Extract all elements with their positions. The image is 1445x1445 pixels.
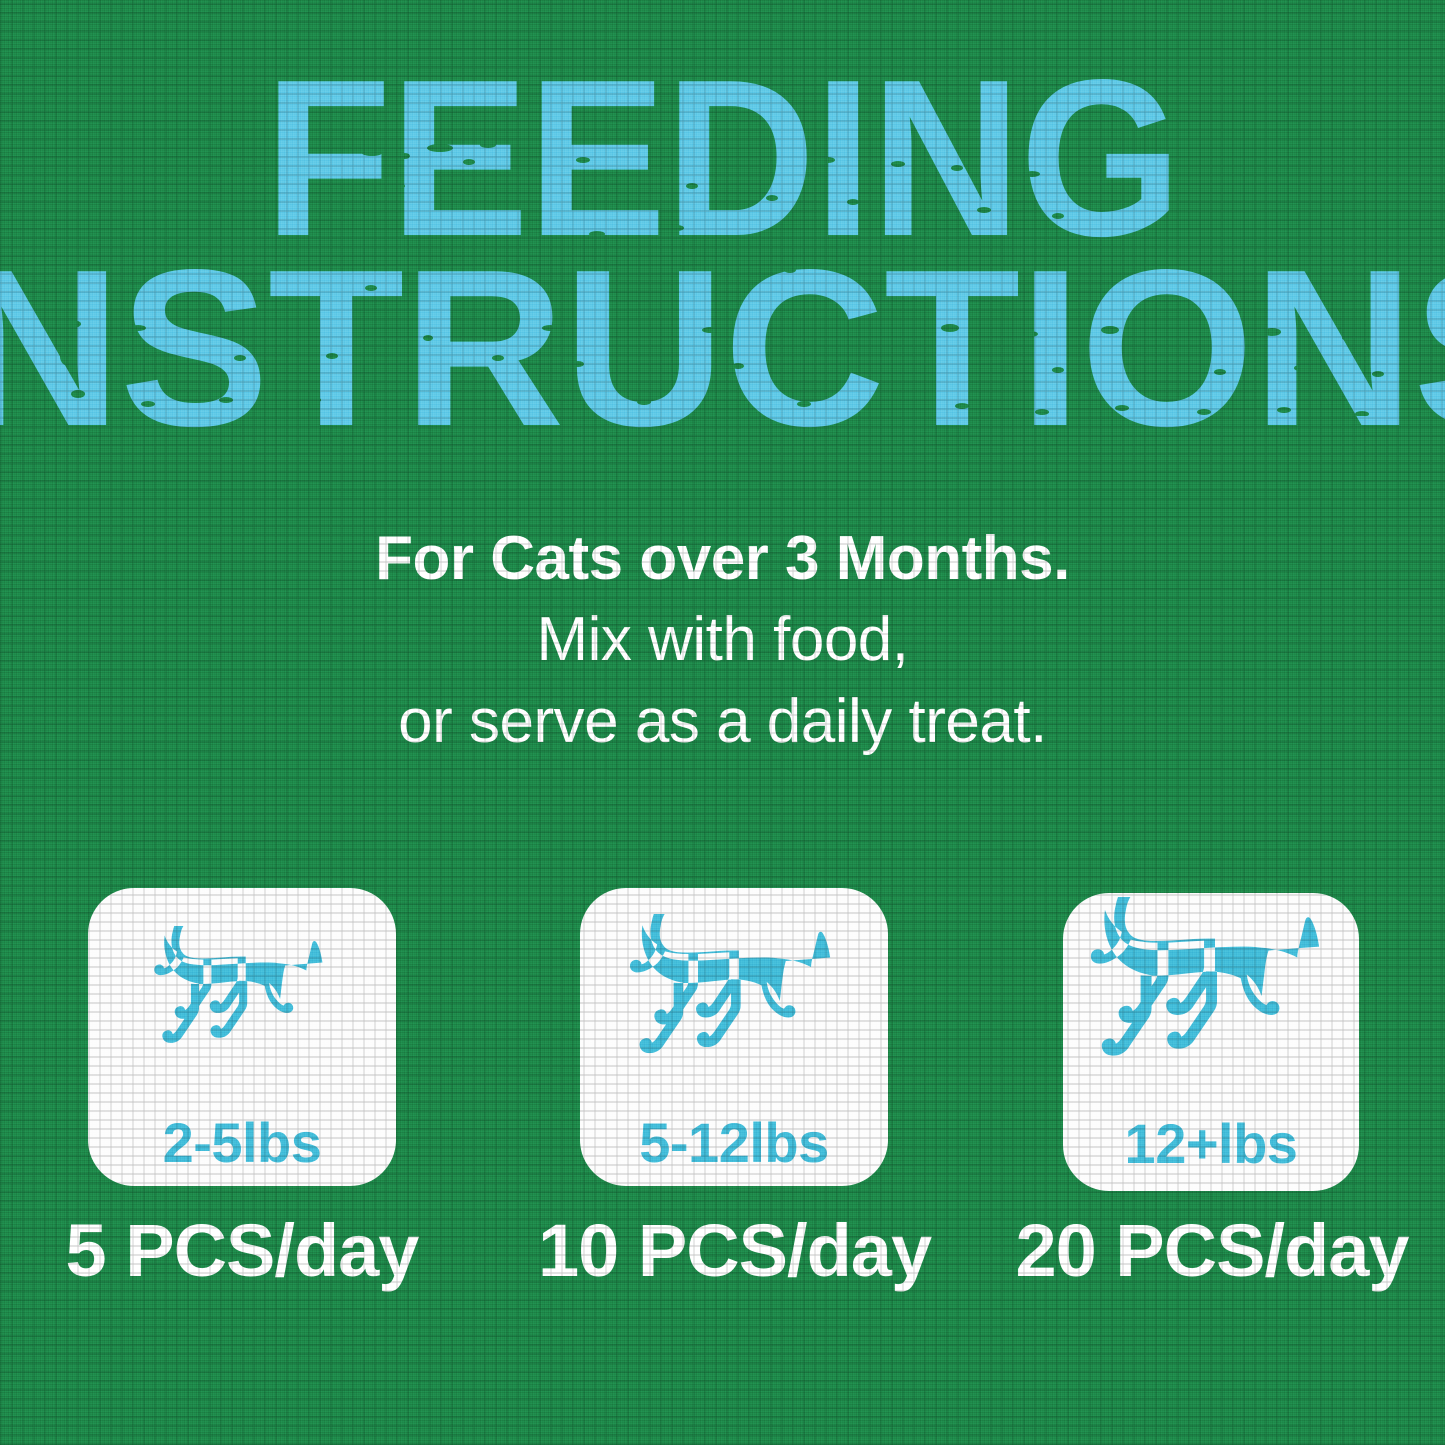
weight-card-large: 12+lbs	[1063, 893, 1359, 1191]
body-line-2: Mix with food,	[0, 605, 1445, 674]
page-title: FEEDING INSTRUCTIONS	[0, 56, 1445, 427]
body-line-1: For Cats over 3 Months.	[0, 524, 1445, 593]
weight-card-row: 2-5lbs 5-12lbs 12+lbs	[0, 888, 1445, 1188]
headline-line-2: INSTRUCTIONS	[0, 246, 1445, 452]
walking-cat-icon	[1083, 897, 1345, 1125]
dosage-label-small: 5 PCS/day	[60, 1208, 424, 1293]
walking-cat-icon	[150, 926, 340, 1094]
card-weight-label: 5-12lbs	[580, 1110, 888, 1175]
card-weight-label: 12+lbs	[1063, 1111, 1359, 1176]
feeding-instructions-poster: FEEDING INSTRUCTIONS	[0, 0, 1445, 1445]
dosage-row: 5 PCS/day 10 PCS/day 20 PCS/day	[0, 1208, 1445, 1318]
dosage-label-medium: 10 PCS/day	[538, 1208, 930, 1293]
body-copy: For Cats over 3 Months. Mix with food, o…	[0, 524, 1445, 756]
weight-card-medium: 5-12lbs	[580, 888, 888, 1186]
card-weight-label: 2-5lbs	[88, 1110, 396, 1175]
walking-cat-icon	[624, 914, 852, 1114]
body-line-3: or serve as a daily treat.	[0, 687, 1445, 756]
dosage-label-large: 20 PCS/day	[1010, 1208, 1414, 1293]
weight-card-small: 2-5lbs	[88, 888, 396, 1186]
